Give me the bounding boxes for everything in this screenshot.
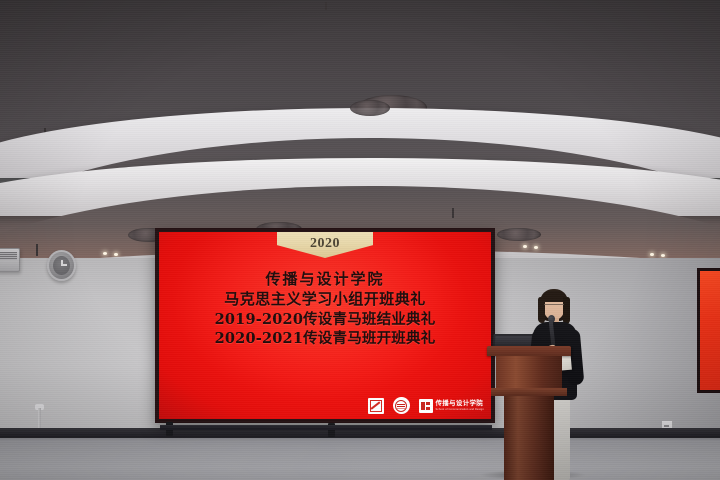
podium — [487, 346, 571, 480]
led-screen-surface: 2020 传播与设计学院 马克思主义学习小组开班典礼 2019-2020传设青马… — [159, 232, 491, 419]
ceiling-spot-13 — [523, 245, 527, 248]
ceiling-spot-2 — [114, 253, 118, 256]
ceiling-stem-b — [452, 208, 454, 218]
screen-base-rail — [160, 425, 492, 430]
ceiling-vent-3 — [497, 228, 541, 241]
floor-stand-pole — [38, 408, 41, 430]
ceiling-spot-1 — [103, 252, 107, 255]
presenter-hair-right — [563, 297, 570, 324]
podium-top — [487, 346, 571, 356]
slide-logo-row: 传播与设计学院 School of Communication and Desi… — [368, 397, 485, 414]
ceiling-spot-14 — [534, 246, 538, 249]
school-wordmark-en: School of Communication and Design — [436, 408, 485, 411]
ceiling-stem-center — [325, 2, 327, 10]
podium-shelf — [491, 388, 567, 396]
clock-face — [53, 256, 70, 275]
school-wordmark-logo: 传播与设计学院 School of Communication and Desi… — [419, 399, 485, 413]
slide-line-3: 2019-2020传设青马班结业典礼 — [159, 311, 491, 329]
school-wordmark-cn: 传播与设计学院 — [436, 400, 485, 407]
school-wordmark-text: 传播与设计学院 School of Communication and Desi… — [436, 400, 485, 411]
lecture-hall-photo: 2020 传播与设计学院 马克思主义学习小组开班典礼 2019-2020传设青马… — [0, 0, 720, 480]
ceiling-stem-a — [36, 244, 38, 256]
slide-line-2: 马克思主义学习小组开班典礼 — [159, 290, 491, 308]
slide-line-1: 传播与设计学院 — [159, 270, 491, 288]
year-banner: 2020 — [277, 232, 373, 258]
floor-reflection — [0, 440, 720, 480]
ceiling-vent-6 — [350, 100, 390, 116]
wall-clock — [47, 250, 76, 281]
presenter-glasses — [544, 304, 564, 309]
slide-title-block: 传播与设计学院 马克思主义学习小组开班典礼 2019-2020传设青马班结业典礼… — [159, 270, 491, 348]
presenter-hair-left — [538, 297, 545, 323]
school-mark-icon — [419, 399, 433, 413]
secondary-led-screen[interactable] — [697, 268, 720, 393]
led-screen[interactable]: 2020 传播与设计学院 马克思主义学习小组开班典礼 2019-2020传设青马… — [155, 228, 495, 423]
secondary-led-screen-surface — [700, 271, 720, 390]
podium-column — [504, 396, 554, 480]
slide-line-4: 2020-2021传设青马班开班典礼 — [159, 330, 491, 348]
seal-round-logo-icon — [393, 397, 410, 414]
year-banner-label: 2020 — [310, 236, 340, 252]
ceiling-spot-17 — [650, 253, 654, 256]
sysu-emblem-logo-icon — [368, 398, 384, 414]
ceiling-spot-18 — [661, 254, 665, 257]
wall-speaker-box — [0, 248, 20, 272]
podium-upper-body — [496, 356, 562, 390]
speaker-grille-icon — [0, 252, 17, 260]
clock-minute-hand — [61, 264, 67, 266]
